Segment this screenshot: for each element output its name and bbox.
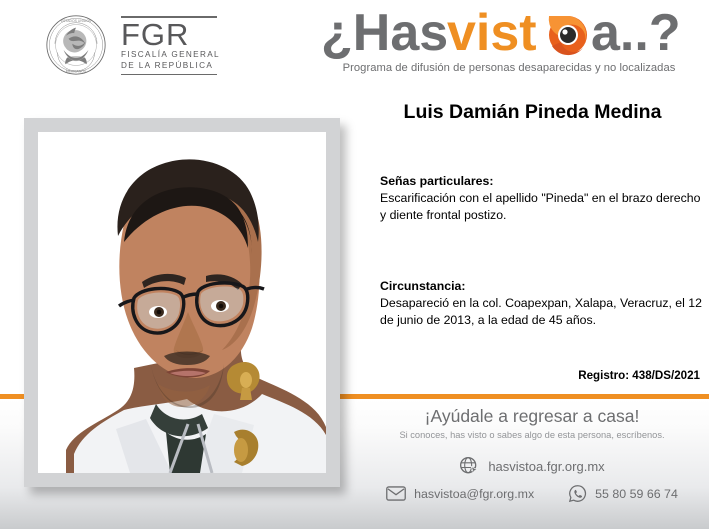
envelope-icon bbox=[386, 486, 406, 501]
svg-text:MEXICANOS: MEXICANOS bbox=[66, 69, 87, 73]
phone-text: 55 80 59 66 74 bbox=[595, 487, 678, 501]
distinguishing-marks-section: Señas particulares: Escarificación con e… bbox=[380, 173, 705, 224]
circumstances-label: Circunstancia: bbox=[380, 278, 705, 295]
whatsapp-icon bbox=[568, 484, 587, 503]
campaign-tagline: Programa de difusión de personas desapar… bbox=[313, 62, 705, 74]
globe-cursor-icon bbox=[459, 456, 479, 476]
email-contact[interactable]: hasvistoa@fgr.org.mx bbox=[386, 486, 534, 501]
missing-person-poster: ESTADOS UNIDOS MEXICANOS FGR FISCALÍA GE… bbox=[0, 0, 709, 529]
website-text: hasvistoa.fgr.org.mx bbox=[488, 459, 604, 474]
eye-icon bbox=[549, 16, 587, 55]
campaign-logo: ¿Has vist a..? Programa de difusión de p… bbox=[313, 4, 705, 74]
distinguishing-marks-text: Escarificación con el apellido "Pineda" … bbox=[380, 190, 705, 224]
fgr-subtitle-line1: FISCALÍA GENERAL bbox=[121, 50, 220, 61]
circumstances-text: Desapareció en la col. Coapexpan, Xalapa… bbox=[380, 295, 705, 329]
footer-call-to-action: ¡Ayúdale a regresar a casa! bbox=[355, 406, 709, 427]
fgr-acronym: FGR bbox=[121, 19, 220, 51]
circumstances-section: Circunstancia: Desapareció en la col. Co… bbox=[380, 278, 705, 329]
hasvistoa-wordmark: ¿Has vist a..? bbox=[319, 4, 699, 64]
person-photo-frame bbox=[24, 118, 340, 487]
page-title: Luis Damián Pineda Medina bbox=[360, 101, 705, 124]
poster-header: ESTADOS UNIDOS MEXICANOS FGR FISCALÍA GE… bbox=[0, 0, 709, 88]
mexican-coat-of-arms-icon: ESTADOS UNIDOS MEXICANOS bbox=[45, 14, 107, 76]
phone-contact[interactable]: 55 80 59 66 74 bbox=[568, 484, 678, 503]
svg-text:vist: vist bbox=[447, 4, 537, 62]
website-contact[interactable]: hasvistoa.fgr.org.mx bbox=[355, 456, 709, 476]
photo-of-missing-person bbox=[38, 132, 326, 473]
svg-text:a..?: a..? bbox=[591, 4, 681, 62]
fgr-rule-bottom bbox=[121, 74, 217, 75]
email-text: hasvistoa@fgr.org.mx bbox=[414, 487, 534, 501]
svg-text:¿Has: ¿Has bbox=[321, 4, 448, 62]
registry-number: Registro: 438/DS/2021 bbox=[380, 369, 700, 382]
footer-subtitle: Si conoces, has visto o sabes algo de es… bbox=[355, 430, 709, 440]
fgr-subtitle-line2: DE LA REPÚBLICA bbox=[121, 61, 220, 72]
svg-text:ESTADOS UNIDOS: ESTADOS UNIDOS bbox=[61, 19, 92, 23]
distinguishing-marks-label: Señas particulares: bbox=[380, 173, 705, 190]
person-photo bbox=[38, 132, 326, 473]
fgr-logo: ESTADOS UNIDOS MEXICANOS FGR FISCALÍA GE… bbox=[45, 8, 220, 76]
fgr-wordmark: FGR FISCALÍA GENERAL DE LA REPÚBLICA bbox=[121, 8, 220, 75]
